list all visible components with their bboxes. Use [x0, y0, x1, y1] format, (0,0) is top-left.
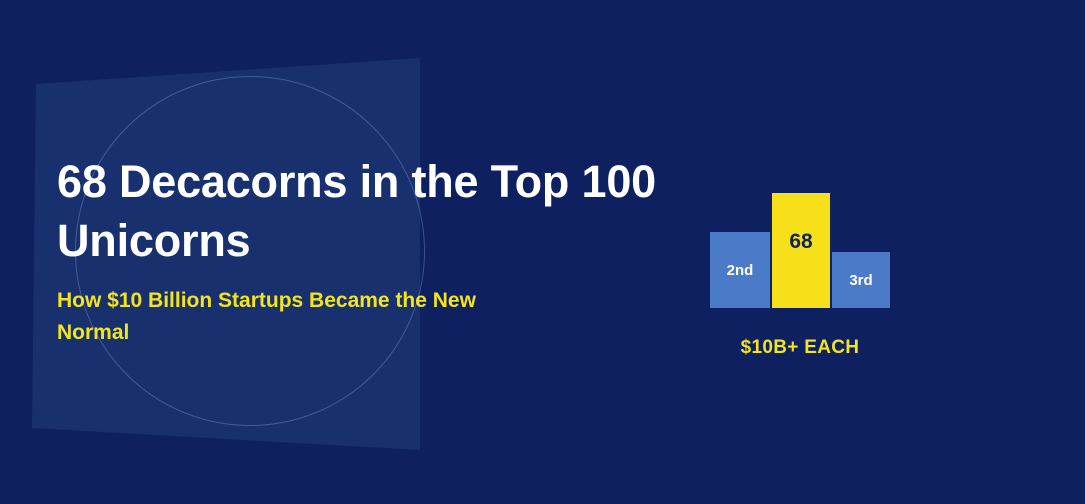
bar-highlight-68: 68	[772, 193, 830, 308]
presentation-slide: 68 Decacorns in the Top 100 Unicorns How…	[0, 0, 1085, 504]
chart-plot-area: 2nd 68 3rd	[690, 180, 910, 308]
podium-bar-chart: 2nd 68 3rd $10B+ EACH	[690, 180, 910, 370]
bar-second-place: 2nd	[710, 232, 770, 308]
bar-third-place: 3rd	[832, 252, 890, 308]
title-block: 68 Decacorns in the Top 100 Unicorns How…	[57, 152, 657, 349]
bar-label-third: 3rd	[849, 273, 872, 288]
bar-label-highlight: 68	[789, 231, 812, 252]
page-subtitle: How $10 Billion Startups Became the New …	[57, 285, 527, 349]
page-title: 68 Decacorns in the Top 100 Unicorns	[57, 152, 657, 271]
bar-label-second: 2nd	[727, 263, 754, 278]
chart-caption: $10B+ EACH	[690, 337, 910, 359]
